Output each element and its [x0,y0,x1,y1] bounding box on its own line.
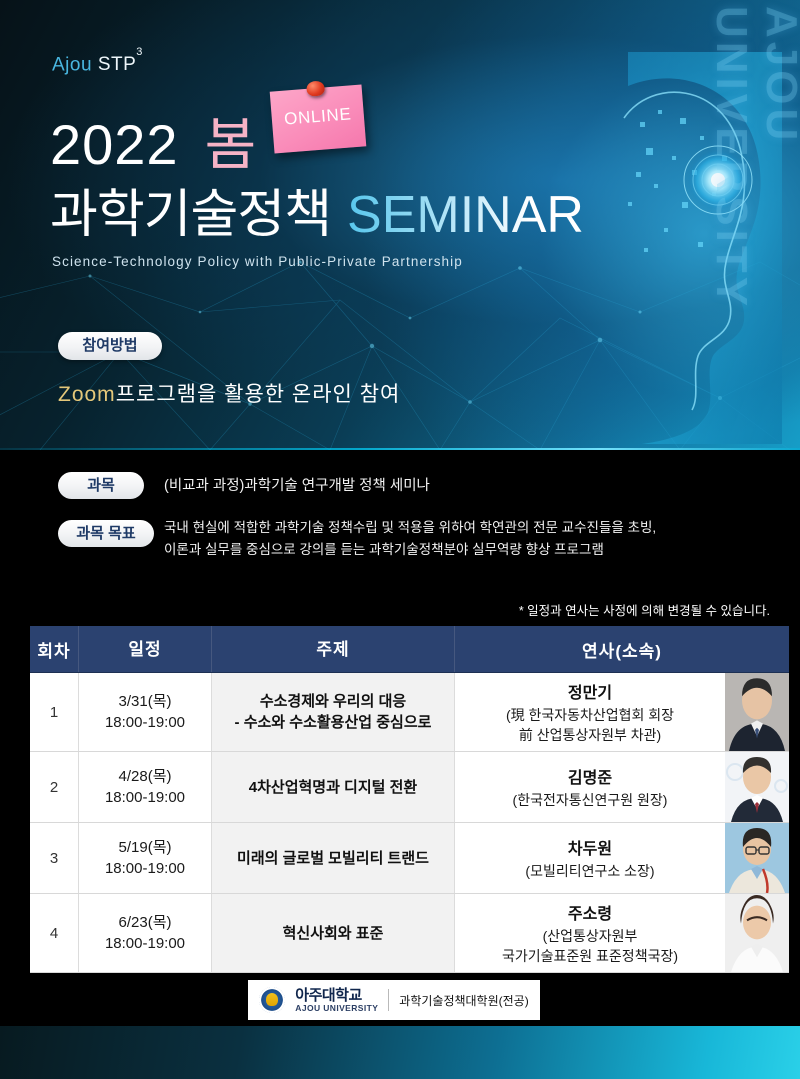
seminar-schedule-table: 회차 일정 주제 연사(소속) 1 3/31(목) 18:00-19:00 수소… [30,626,789,973]
subject-text: (비교과 과정)과학기술 연구개발 정책 세미나 [164,474,430,495]
brand-main: STP [98,54,136,75]
row-speaker: 김명준 (한국전자통신연구원 원장) [455,752,790,823]
column-header-speaker: 연사(소속) [455,626,790,673]
date-line-2: 18:00-19:00 [80,787,210,808]
column-header-date: 일정 [79,626,212,673]
row-date: 3/31(목) 18:00-19:00 [79,673,212,752]
subject-badge: 과목 [58,472,144,499]
row-date: 6/23(목) 18:00-19:00 [79,894,212,973]
row-number: 3 [30,823,79,894]
topic-line-1: 4차산업혁명과 디지털 전환 [218,777,448,798]
ajou-stp-logo: Ajou STP3 [52,54,143,76]
row-topic: 미래의 글로벌 모빌리티 트랜드 [212,823,455,894]
goal-line-2: 이론과 실무를 중심으로 강의를 듣는 과학기술정책분야 실무역량 향상 프로그… [164,542,604,557]
university-name-en: AJOU UNIVERSITY [295,1003,378,1013]
title-season: 봄 [205,113,258,176]
zoom-label: Zoom [58,383,116,406]
speaker-name: 김명준 [459,764,721,788]
goal-text: 국내 현실에 적합한 과학기술 정책수립 및 적용을 위하여 학연관의 전문 교… [164,517,784,561]
brand-superscript: 3 [136,46,143,58]
date-line-2: 18:00-19:00 [80,933,210,954]
footer-logo-bar: 아주대학교 AJOU UNIVERSITY 과학기술정책대학원(전공) [248,980,540,1020]
row-topic: 혁신사회와 표준 [212,894,455,973]
participation-method-badge: 참여방법 [58,332,162,360]
speaker-name: 주소령 [459,900,721,924]
seminar-poster: AJOU UNIVERSITY Ajou STP3 2022봄 과학기술정책SE… [0,0,800,1079]
row-topic: 4차산업혁명과 디지털 전환 [212,752,455,823]
date-line-1: 5/19(목) [80,837,210,858]
ajou-emblem-icon [259,987,285,1013]
date-line-1: 6/23(목) [80,912,210,933]
schedule-change-note: * 일정과 연사는 사정에 의해 변경될 수 있습니다. [519,600,770,619]
table-row: 1 3/31(목) 18:00-19:00 수소경제와 우리의 대응 - 수소와… [30,673,789,752]
speaker-photo [725,894,789,972]
speaker-org: (산업통상자원부 국가기술표준원 표준정책국장) [459,926,721,966]
row-speaker: 차두원 (모빌리티연구소 소장) [455,823,790,894]
department-name: 과학기술정책대학원(전공) [399,992,528,1009]
speaker-org-line-1: (한국전자통신연구원 원장) [459,790,721,810]
speaker-org-line-1: (산업통상자원부 [459,926,721,946]
poster-title-year: 2022봄 [50,100,257,181]
title-seminar: SEMINAR [347,186,584,244]
speaker-name: 차두원 [459,835,721,859]
vertical-university-text: AJOU UNIVERSITY [706,6,800,436]
participation-method-text: Zoom프로그램을 활용한 온라인 참여 [58,378,400,408]
speaker-org: (모빌리티연구소 소장) [459,861,721,881]
table-row: 4 6/23(목) 18:00-19:00 혁신사회와 표준 주소령 (산업통상… [30,894,789,973]
speaker-org-line-2: 前 산업통상자원부 차관) [459,725,721,745]
row-number: 4 [30,894,79,973]
speaker-photo [725,823,789,893]
poster-subtitle: Science-Technology Policy with Public-Pr… [52,254,463,269]
table-row: 3 5/19(목) 18:00-19:00 미래의 글로벌 모빌리티 트랜드 차… [30,823,789,894]
column-header-topic: 주제 [212,626,455,673]
topic-line-1: 수소경제와 우리의 대응 [218,691,448,712]
row-speaker: 정만기 (現 한국자동차산업협회 회장 前 산업통상자원부 차관) [455,673,790,752]
title-korean: 과학기술정책 [50,186,331,244]
poster-title-main: 과학기술정책SEMINAR [50,172,584,247]
speaker-org: (한국전자통신연구원 원장) [459,790,721,810]
hero-banner: AJOU UNIVERSITY Ajou STP3 2022봄 과학기술정책SE… [0,0,800,450]
row-number: 2 [30,752,79,823]
speaker-org-line-1: (모빌리티연구소 소장) [459,861,721,881]
title-year: 2022 [50,113,179,176]
goal-line-1: 국내 현실에 적합한 과학기술 정책수립 및 적용을 위하여 학연관의 전문 교… [164,520,656,535]
row-date: 5/19(목) 18:00-19:00 [79,823,212,894]
university-name-ko: 아주대학교 [295,988,378,1003]
footer-divider [388,989,389,1011]
speaker-photo [725,752,789,822]
sticky-label: ONLINE [271,103,364,130]
date-line-2: 18:00-19:00 [80,858,210,879]
date-line-2: 18:00-19:00 [80,712,210,733]
brand-prefix: Ajou [52,54,92,75]
bottom-accent-bar [0,1026,800,1079]
speaker-org-line-2: 국가기술표준원 표준정책국장) [459,946,721,966]
date-line-1: 3/31(목) [80,691,210,712]
speaker-photo [725,673,789,751]
row-topic: 수소경제와 우리의 대응 - 수소와 수소활용산업 중심으로 [212,673,455,752]
university-name-block: 아주대학교 AJOU UNIVERSITY [295,988,378,1013]
speaker-org-line-1: (現 한국자동차산업협회 회장 [459,705,721,725]
course-info-section: 과목 (비교과 과정)과학기술 연구개발 정책 세미나 과목 목표 국내 현실에… [0,450,800,610]
topic-line-2: - 수소와 수소활용산업 중심으로 [218,712,448,733]
pushpin-icon [306,80,325,96]
goal-badge: 과목 목표 [58,520,154,547]
topic-line-1: 혁신사회와 표준 [218,923,448,944]
participation-rest: 프로그램을 활용한 온라인 참여 [116,383,401,406]
online-sticky-note: ONLINE [270,84,367,153]
table-header-row: 회차 일정 주제 연사(소속) [30,626,789,673]
column-header-no: 회차 [30,626,79,673]
row-speaker: 주소령 (산업통상자원부 국가기술표준원 표준정책국장) [455,894,790,973]
speaker-org: (現 한국자동차산업협회 회장 前 산업통상자원부 차관) [459,705,721,745]
table-row: 2 4/28(목) 18:00-19:00 4차산업혁명과 디지털 전환 김명준… [30,752,789,823]
row-number: 1 [30,673,79,752]
speaker-name: 정만기 [459,679,721,703]
row-date: 4/28(목) 18:00-19:00 [79,752,212,823]
topic-line-1: 미래의 글로벌 모빌리티 트랜드 [218,848,448,869]
date-line-1: 4/28(목) [80,766,210,787]
